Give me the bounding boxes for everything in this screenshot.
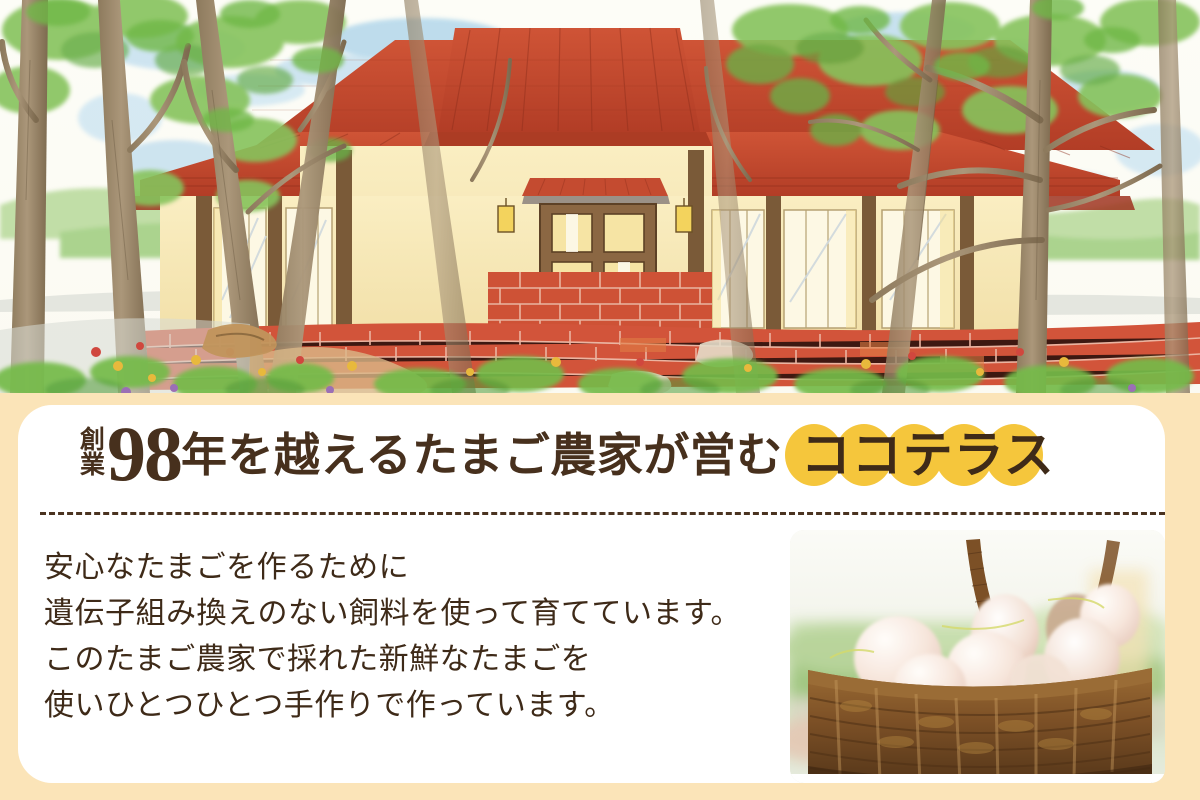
promo-banner: 創 業 98 年を越えるたまご農家が営む ココテラス 安心なたまごを作るために …	[0, 0, 1200, 800]
hero-illustration	[0, 0, 1200, 393]
body-line: 遺伝子組み換えのない飼料を使って育てています。	[44, 591, 784, 637]
headline-rest: 年を越えるたまご農家が営む	[181, 433, 783, 479]
headline: 創 業 98 年を越えるたまご農家が営む ココテラス	[18, 405, 1165, 501]
founded-label: 創 業	[80, 429, 105, 478]
body-line: 使いひとつひとつ手作りで作っています。	[44, 683, 784, 729]
founded-label-char2: 業	[80, 454, 105, 479]
brand-name-label: ココテラス	[795, 430, 1061, 480]
body-line: このたまご農家で採れた新鮮なたまごを	[44, 637, 784, 683]
brand-name: ココテラス	[795, 430, 1061, 480]
body-line: 安心なたまごを作るために	[44, 545, 784, 591]
body-copy: 安心なたまごを作るために 遺伝子組み換えのない飼料を使って育てています。 このた…	[44, 545, 784, 729]
egg-basket-photo	[790, 530, 1165, 783]
years-number: 98	[107, 424, 181, 485]
dashed-divider	[40, 512, 1165, 515]
founded-label-char1: 創	[80, 429, 105, 454]
